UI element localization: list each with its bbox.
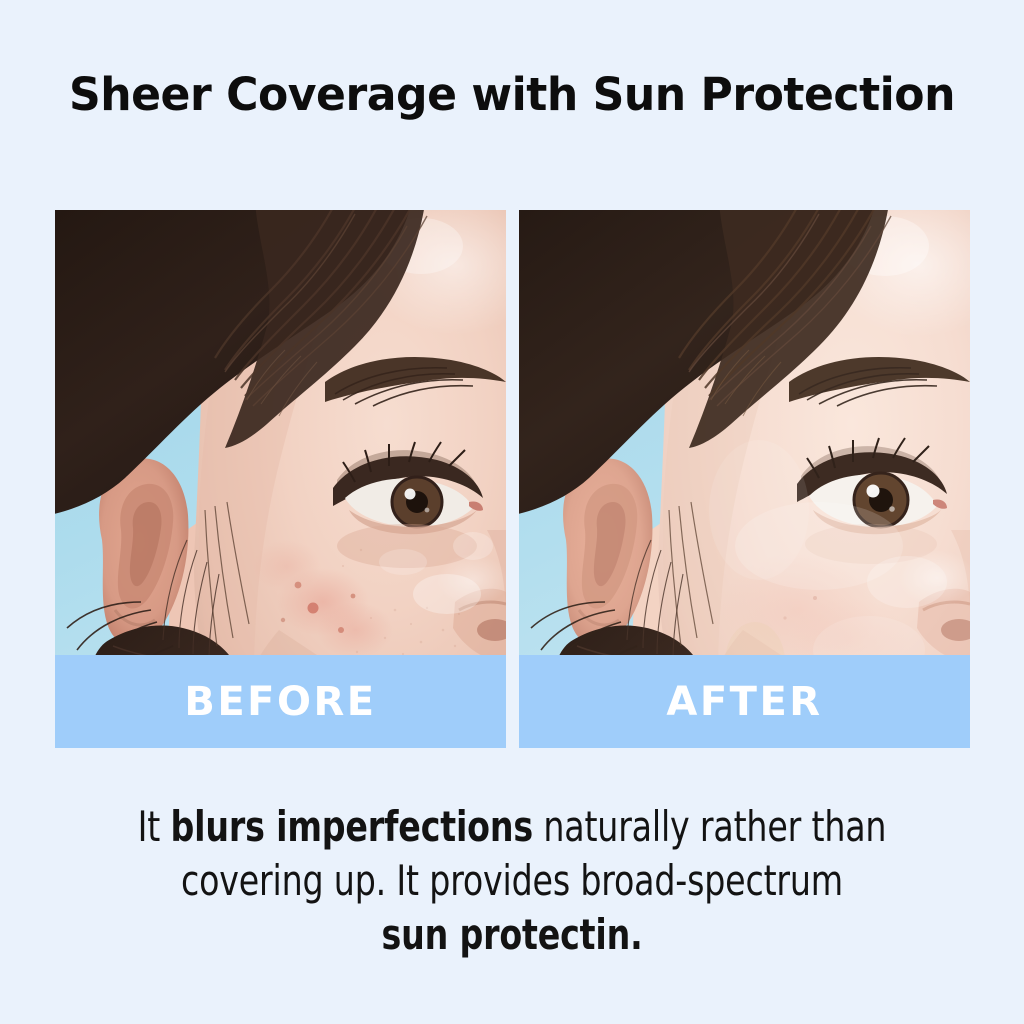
caption-line-1-suffix: naturally rather than [533,802,886,851]
caption-line-2: covering up. It provides broad-spectrum [105,854,918,908]
caption-line-3-bold: sun protectin. [381,910,642,959]
before-label: BEFORE [184,682,376,722]
page-title: Sheer Coverage with Sun Protection [10,72,1014,117]
caption-line-1-prefix: It [138,802,171,851]
after-panel: AFTER [519,210,970,748]
caption-line-1: It blurs imperfections naturally rather … [105,800,918,854]
before-label-bar: BEFORE [55,655,506,748]
caption-text: It blurs imperfections naturally rather … [50,800,974,961]
before-after-comparison: BEFORE [55,210,970,748]
after-label: AFTER [666,682,822,722]
promo-card: Sheer Coverage with Sun Protection [0,0,1024,1024]
caption-line-1-bold: blurs imperfections [171,802,533,851]
caption-line-3: sun protectin. [105,908,918,962]
before-panel: BEFORE [55,210,506,748]
caption-line-2-prefix: covering up. It provides broad-spectrum [181,856,843,905]
after-label-bar: AFTER [519,655,970,748]
